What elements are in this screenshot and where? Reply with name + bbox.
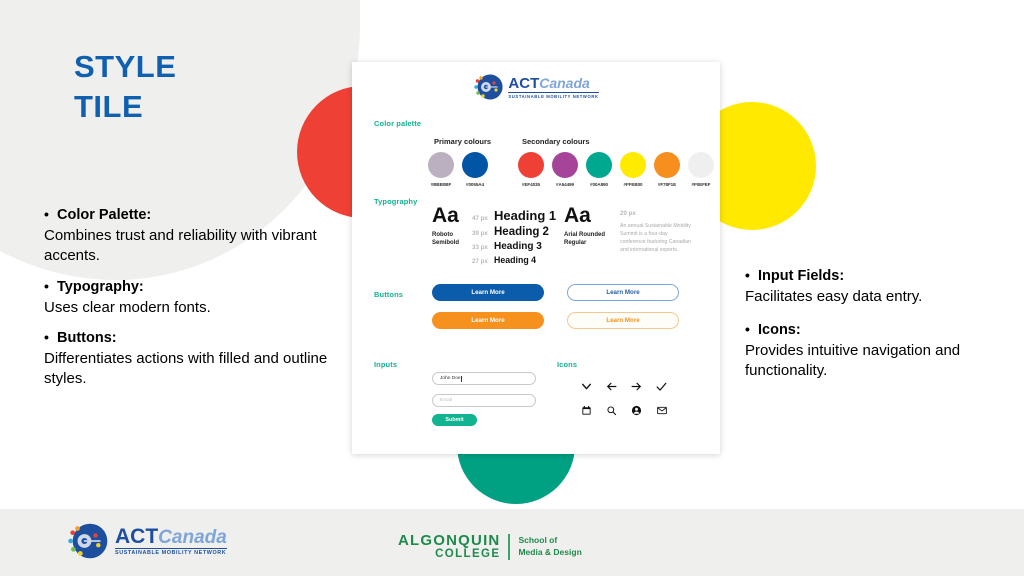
icon-set [574, 380, 674, 416]
type-scale-size: 27 px [472, 258, 494, 265]
type-scale-row: 47 px Heading 1 [472, 208, 556, 223]
swatch-secondary-2[interactable]: #A54499 [552, 152, 578, 187]
section-label-inputs: Inputs [374, 360, 397, 369]
primary-colours-heading: Primary colours [434, 137, 491, 146]
swatch-secondary-4[interactable]: #FFEB00 [620, 152, 646, 187]
bullet-body-input-fields: Facilitates easy data entry. [745, 287, 1005, 307]
act-logo-tagline: SUSTAINABLE MOBILITY NETWORK [508, 92, 598, 99]
act-logo-tagline: SUSTAINABLE MOBILITY NETWORK [115, 548, 227, 556]
swatch-hex-label: #F78F1E [654, 182, 680, 187]
body-copy-specimen: 20 px An annual Sustainable Mobility Sum… [620, 210, 694, 254]
section-label-color-palette: Color palette [374, 119, 421, 128]
act-canada-logo: ACT Canada SUSTAINABLE MOBILITY NETWORK [352, 74, 720, 100]
name-input[interactable]: John Doe [432, 372, 536, 385]
bullet-dot-icon: • [745, 268, 758, 282]
bullet-heading-input-fields: • Input Fields: [745, 268, 1005, 284]
left-description-list: • Color Palette: Combines trust and reli… [44, 207, 344, 402]
font-name: Arial Rounded Regular [564, 231, 605, 247]
algonquin-school-label: School of Media & Design [518, 535, 581, 558]
type-scale-size: 33 px [472, 244, 494, 251]
submit-button[interactable]: Submit [432, 414, 477, 426]
bullet-body-icons: Provides intuitive navigation and functi… [745, 341, 1005, 381]
swatch-secondary-5[interactable]: #F78F1E [654, 152, 680, 187]
style-tile-card: ACT Canada SUSTAINABLE MOBILITY NETWORK … [352, 62, 720, 454]
footer-bar: ACT Canada SUSTAINABLE MOBILITY NETWORK … [0, 509, 1024, 576]
swatch-secondary-6[interactable]: #F0EFEF [688, 152, 714, 187]
right-description-list: • Input Fields: Facilitates easy data en… [745, 268, 1005, 395]
section-label-typography: Typography [374, 197, 417, 206]
type-scale-row: 33 px Heading 3 [472, 241, 556, 252]
email-input-placeholder: Email [440, 398, 452, 403]
bullet-heading-label: Typography: [57, 279, 144, 295]
bullet-dot-icon: • [44, 207, 57, 221]
swatch-hex-label: #FFEB00 [620, 182, 646, 187]
heading-font-specimen: Aa Roboto Semibold [432, 205, 459, 247]
act-globe-icon [66, 523, 114, 559]
swatch-color-chip [518, 152, 544, 178]
font-sample-glyphs: Aa [432, 205, 459, 226]
type-scale-label: Heading 2 [494, 226, 549, 238]
learn-more-button-filled-orange[interactable]: Learn More [432, 312, 544, 329]
bullet-heading-typography: • Typography: [44, 279, 344, 295]
body-sample-text: An annual Sustainable Mobility Summit is… [620, 222, 694, 254]
footer-act-canada-logo: ACT Canada SUSTAINABLE MOBILITY NETWORK [66, 523, 227, 559]
swatch-secondary-3[interactable]: #00A890 [586, 152, 612, 187]
type-scale-size: 47 px [472, 215, 494, 222]
learn-more-button-outline-orange[interactable]: Learn More [567, 312, 679, 329]
check-icon[interactable] [655, 380, 668, 393]
logo-divider [508, 534, 510, 560]
secondary-swatch-row: #EF4035 #A54499 #00A890 #FFEB00 #F78F1E … [518, 152, 714, 187]
swatch-color-chip [688, 152, 714, 178]
bullet-heading-icons: • Icons: [745, 322, 1005, 338]
type-scale-label: Heading 3 [494, 241, 542, 252]
learn-more-button-outline-blue[interactable]: Learn More [567, 284, 679, 301]
type-scale-list: 47 px Heading 1 39 px Heading 2 33 px He… [472, 208, 556, 268]
email-input[interactable]: Email [432, 394, 536, 407]
swatch-primary-1[interactable]: #BBB0BF [428, 152, 454, 187]
swatch-color-chip [428, 152, 454, 178]
algonquin-name: ALGONQUIN [398, 533, 500, 548]
swatch-color-chip [462, 152, 488, 178]
calendar-icon[interactable] [581, 405, 592, 416]
section-label-icons: Icons [557, 360, 577, 369]
swatch-color-chip [620, 152, 646, 178]
swatch-color-chip [654, 152, 680, 178]
type-scale-row: 27 px Heading 4 [472, 255, 556, 265]
email-icon[interactable] [656, 405, 668, 416]
bullet-heading-color-palette: • Color Palette: [44, 207, 344, 223]
chevron-down-icon[interactable] [580, 380, 593, 393]
bullet-body-color-palette: Combines trust and reliability with vibr… [44, 226, 344, 266]
bullet-dot-icon: • [44, 330, 57, 344]
page-title: STYLE TILE [74, 47, 176, 126]
bullet-dot-icon: • [44, 279, 57, 293]
bullet-heading-label: Icons: [758, 322, 801, 338]
primary-swatch-row: #BBB0BF #0055A4 [428, 152, 488, 187]
bullet-body-typography: Uses clear modern fonts. [44, 298, 344, 318]
bullet-heading-buttons: • Buttons: [44, 330, 344, 346]
swatch-hex-label: #00A890 [586, 182, 612, 187]
footer-algonquin-logo: ALGONQUIN COLLEGE School of Media & Desi… [398, 533, 582, 561]
font-name: Roboto Semibold [432, 231, 459, 247]
swatch-color-chip [552, 152, 578, 178]
act-globe-icon [473, 74, 507, 100]
act-logo-canada-text: Canada [158, 528, 227, 547]
swatch-hex-label: #BBB0BF [428, 182, 454, 187]
page-title-line1: STYLE [74, 47, 176, 87]
bullet-body-buttons: Differentiates actions with filled and o… [44, 349, 344, 389]
body-font-specimen: Aa Arial Rounded Regular [564, 205, 605, 247]
bullet-heading-label: Buttons: [57, 330, 117, 346]
section-label-buttons: Buttons [374, 290, 403, 299]
name-input-value: John Doe [440, 376, 461, 381]
search-icon[interactable] [606, 405, 617, 416]
text-cursor [461, 376, 462, 382]
act-logo-act-text: ACT [508, 76, 539, 91]
secondary-colours-heading: Secondary colours [522, 137, 590, 146]
bullet-heading-label: Color Palette: [57, 207, 151, 223]
body-font-size: 20 px [620, 210, 694, 217]
arrow-left-icon[interactable] [605, 380, 618, 393]
swatch-hex-label: #F0EFEF [688, 182, 714, 187]
act-logo-canada-text: Canada [539, 76, 590, 90]
type-scale-label: Heading 1 [494, 208, 556, 223]
bullet-heading-label: Input Fields: [758, 268, 844, 284]
type-scale-row: 39 px Heading 2 [472, 226, 556, 238]
learn-more-button-filled-blue[interactable]: Learn More [432, 284, 544, 301]
swatch-hex-label: #EF4035 [518, 182, 544, 187]
page-title-line2: TILE [74, 87, 176, 127]
type-scale-label: Heading 4 [494, 255, 536, 265]
account-icon[interactable] [631, 405, 642, 416]
act-logo-act-text: ACT [115, 526, 158, 547]
algonquin-college-label: COLLEGE [398, 549, 500, 561]
type-scale-size: 39 px [472, 230, 494, 237]
swatch-hex-label: #0055A4 [462, 182, 488, 187]
swatch-secondary-1[interactable]: #EF4035 [518, 152, 544, 187]
bullet-dot-icon: • [745, 322, 758, 336]
arrow-right-icon[interactable] [630, 380, 643, 393]
swatch-color-chip [586, 152, 612, 178]
swatch-primary-2[interactable]: #0055A4 [462, 152, 488, 187]
swatch-hex-label: #A54499 [552, 182, 578, 187]
font-sample-glyphs: Aa [564, 205, 605, 226]
